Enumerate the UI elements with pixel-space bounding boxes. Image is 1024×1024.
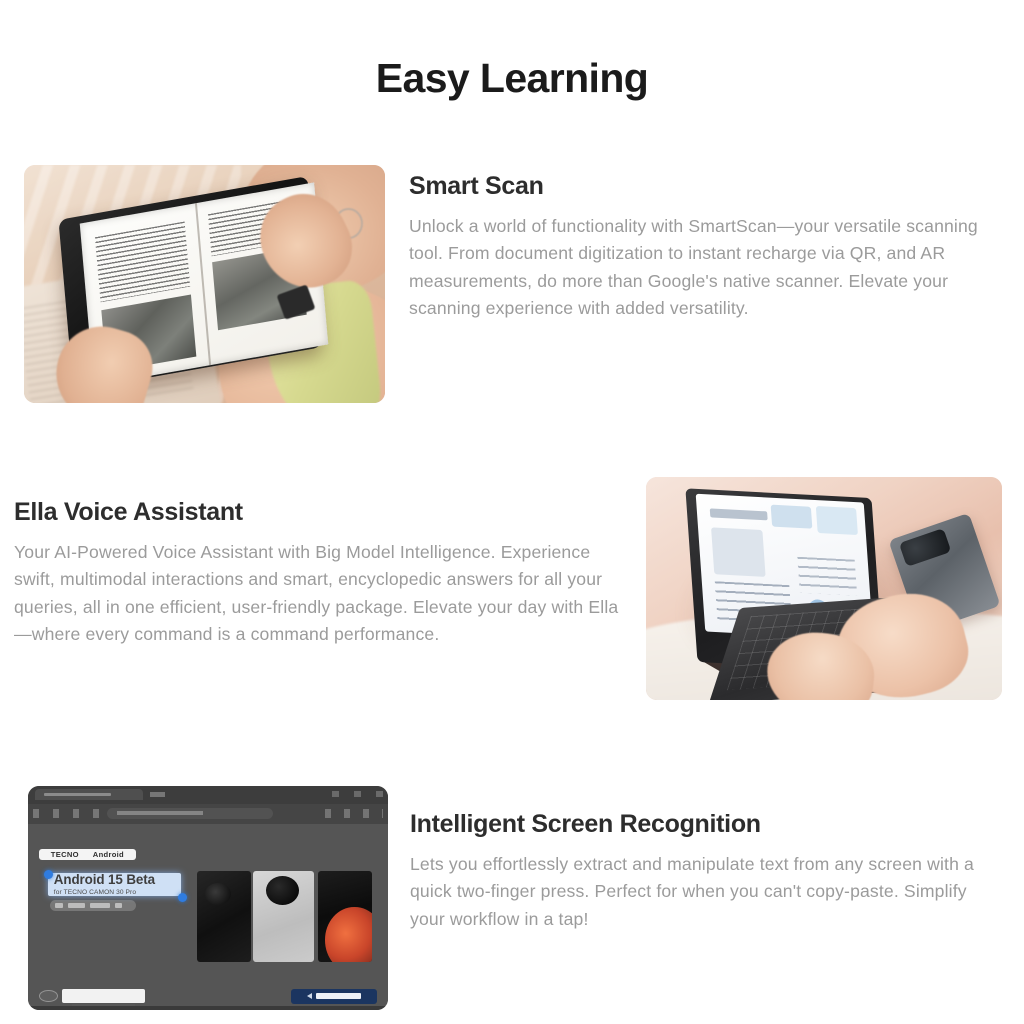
ella-photo-scene <box>646 477 1002 700</box>
feature-smart-scan-body: Unlock a world of functionality with Sma… <box>409 213 994 323</box>
photo3-window-bottom-edge <box>28 1006 388 1010</box>
screen-recognition-scene: TECNO Android Android 15 Beta for TECNO … <box>28 786 388 1010</box>
feature-ella-voice-assistant-heading: Ella Voice Assistant <box>14 498 634 526</box>
photo3-action-select-all-button[interactable] <box>90 903 110 909</box>
feature-smart-scan-heading: Smart Scan <box>409 172 994 200</box>
photo3-cta-label <box>316 993 361 999</box>
photo3-text-selection-highlight[interactable]: Android 15 Beta for TECNO CAMON 30 Pro <box>48 873 181 895</box>
photo1-book-text-left <box>96 222 191 302</box>
smart-scan-image <box>24 165 385 403</box>
photo3-address-bar[interactable] <box>107 808 273 818</box>
feature-smart-scan: Smart Scan Unlock a world of functionali… <box>409 172 994 323</box>
photo3-browser-tab[interactable] <box>35 789 143 800</box>
photo3-selected-headline: Android 15 Beta <box>54 873 181 887</box>
smart-scan-photo-scene <box>24 165 385 403</box>
photo3-browser-titlebar <box>28 786 388 804</box>
photo3-toolbar-icons[interactable] <box>325 809 383 818</box>
photo3-cta-arrow-icon <box>307 993 312 999</box>
photo2-ui-card-3 <box>816 506 858 536</box>
photo3-action-more-icon[interactable] <box>115 903 122 909</box>
photo3-page-content: TECNO Android Android 15 Beta for TECNO … <box>28 824 388 1010</box>
infographic-page: Easy Learning Smart Scan Unlock <box>0 0 1024 1024</box>
photo3-selected-subheadline: for TECNO CAMON 30 Pro <box>54 889 181 896</box>
photo3-profile-avatar[interactable] <box>39 990 58 1002</box>
feature-ella-voice-assistant: Ella Voice Assistant Your AI-Powered Voi… <box>14 498 634 649</box>
photo3-selection-handle-start[interactable] <box>44 870 53 879</box>
intelligent-screen-recognition-image: TECNO Android Android 15 Beta for TECNO … <box>28 786 388 1010</box>
photo3-action-refresh-icon[interactable] <box>55 903 63 909</box>
photo2-phone-camera-module <box>899 528 953 568</box>
photo3-address-bar-text <box>117 811 203 815</box>
photo2-ui-header <box>710 508 768 521</box>
photo2-ui-text-lines-right <box>798 557 858 596</box>
feature-ella-voice-assistant-body: Your AI-Powered Voice Assistant with Big… <box>14 539 634 649</box>
photo3-window-controls[interactable] <box>332 791 382 798</box>
photo3-brand-chip: TECNO Android <box>39 849 136 859</box>
photo2-ui-card-2 <box>770 505 812 529</box>
photo3-footer-info-chip <box>62 989 145 1003</box>
photo3-navigation-icons[interactable] <box>33 809 105 818</box>
photo3-platform-name: Android <box>93 850 124 859</box>
photo3-product-image-white-phone <box>253 871 314 962</box>
feature-intelligent-screen-recognition-body: Lets you effortlessly extract and manipu… <box>410 851 990 933</box>
photo3-browser-toolbar <box>28 804 388 824</box>
photo3-brand-name: TECNO <box>51 850 79 859</box>
photo3-new-tab-plus-icon[interactable] <box>150 792 164 797</box>
photo3-action-copy-button[interactable] <box>68 903 85 909</box>
photo3-selection-handle-end[interactable] <box>178 893 187 902</box>
photo3-selection-action-toolbar[interactable] <box>50 900 136 910</box>
photo3-product-image-orange-wallpaper-phone <box>318 871 372 962</box>
photo3-product-image-dark-phone <box>197 871 251 962</box>
photo3-cta-button[interactable] <box>291 989 377 1004</box>
photo3-browser-tab-title <box>44 793 111 796</box>
page-title: Easy Learning <box>0 55 1024 102</box>
ella-voice-assistant-image <box>646 477 1002 700</box>
photo2-ui-card-1 <box>712 528 766 578</box>
feature-intelligent-screen-recognition-heading: Intelligent Screen Recognition <box>410 810 990 838</box>
feature-intelligent-screen-recognition: Intelligent Screen Recognition Lets you … <box>410 810 990 933</box>
